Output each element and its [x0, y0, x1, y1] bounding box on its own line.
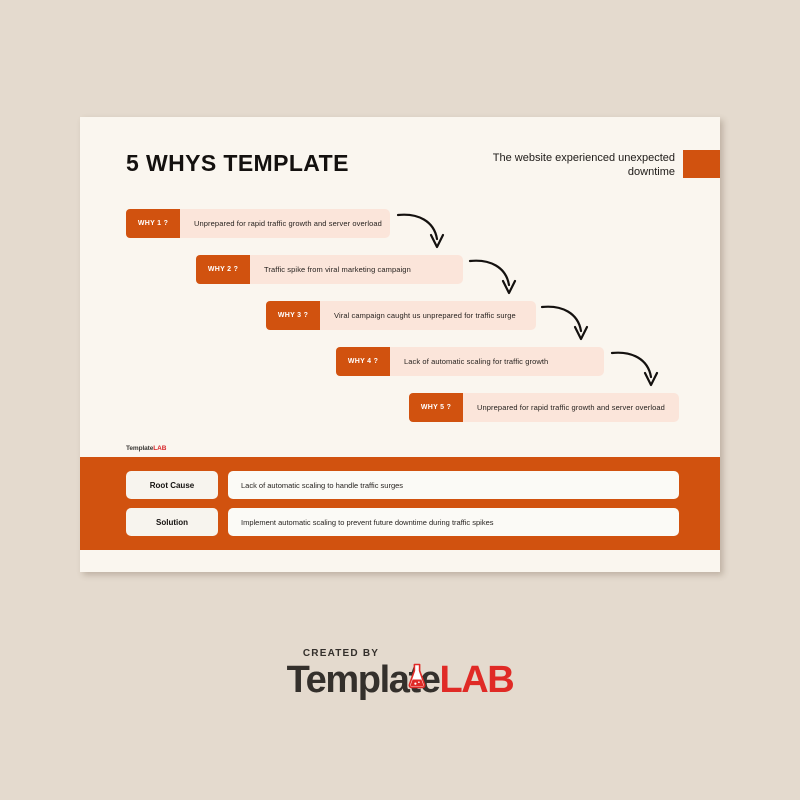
why-text-4: Lack of automatic scaling for traffic gr…	[390, 347, 604, 376]
why-row-3[interactable]: WHY 3 ? Viral campaign caught us unprepa…	[266, 301, 536, 330]
flow-arrow-1-to-2	[396, 207, 454, 255]
why-text-5: Unprepared for rapid traffic growth and …	[463, 393, 679, 422]
five-whys-slide-card: 5 WHYS TEMPLATE The website experienced …	[80, 117, 720, 572]
flow-arrow-4-to-5	[610, 345, 668, 393]
card-logo-template: Template	[126, 445, 153, 452]
why-row-2[interactable]: WHY 2 ? Traffic spike from viral marketi…	[196, 255, 463, 284]
card-logo-lab: LAB	[153, 445, 166, 452]
solution-row: Solution Implement automatic scaling to …	[126, 508, 679, 536]
why-row-4[interactable]: WHY 4 ? Lack of automatic scaling for tr…	[336, 347, 604, 376]
problem-statement: The website experienced unexpected downt…	[465, 151, 675, 179]
footer-wordmark-lab: LAB	[439, 659, 513, 701]
card-logo: TemplateLAB	[126, 445, 166, 452]
why-badge-2: WHY 2 ?	[196, 255, 250, 284]
footer-wordmark: TemplateLAB	[287, 660, 514, 700]
root-cause-row: Root Cause Lack of automatic scaling to …	[126, 471, 679, 499]
summary-band: Root Cause Lack of automatic scaling to …	[80, 457, 720, 550]
flow-arrow-2-to-3	[468, 253, 526, 301]
header-accent-block	[683, 150, 720, 178]
why-text-2: Traffic spike from viral marketing campa…	[250, 255, 463, 284]
root-cause-value[interactable]: Lack of automatic scaling to handle traf…	[228, 471, 679, 499]
footer-created-by-label: CREATED BY	[0, 648, 800, 659]
page-title: 5 WHYS TEMPLATE	[126, 150, 349, 177]
root-cause-label: Root Cause	[126, 471, 218, 499]
solution-value[interactable]: Implement automatic scaling to prevent f…	[228, 508, 679, 536]
why-badge-5: WHY 5 ?	[409, 393, 463, 422]
why-badge-4: WHY 4 ?	[336, 347, 390, 376]
why-row-5[interactable]: WHY 5 ? Unprepared for rapid traffic gro…	[409, 393, 679, 422]
why-badge-1: WHY 1 ?	[126, 209, 180, 238]
why-row-1[interactable]: WHY 1 ? Unprepared for rapid traffic gro…	[126, 209, 390, 238]
flow-arrow-3-to-4	[540, 299, 598, 347]
flask-icon	[407, 663, 427, 689]
footer-brand: CREATED BY TemplateLAB	[0, 648, 800, 700]
solution-label: Solution	[126, 508, 218, 536]
why-text-3: Viral campaign caught us unprepared for …	[320, 301, 536, 330]
slide-header: 5 WHYS TEMPLATE The website experienced …	[80, 117, 720, 195]
why-chain: WHY 1 ? Unprepared for rapid traffic gro…	[80, 195, 720, 465]
why-text-1: Unprepared for rapid traffic growth and …	[180, 209, 390, 238]
why-badge-3: WHY 3 ?	[266, 301, 320, 330]
